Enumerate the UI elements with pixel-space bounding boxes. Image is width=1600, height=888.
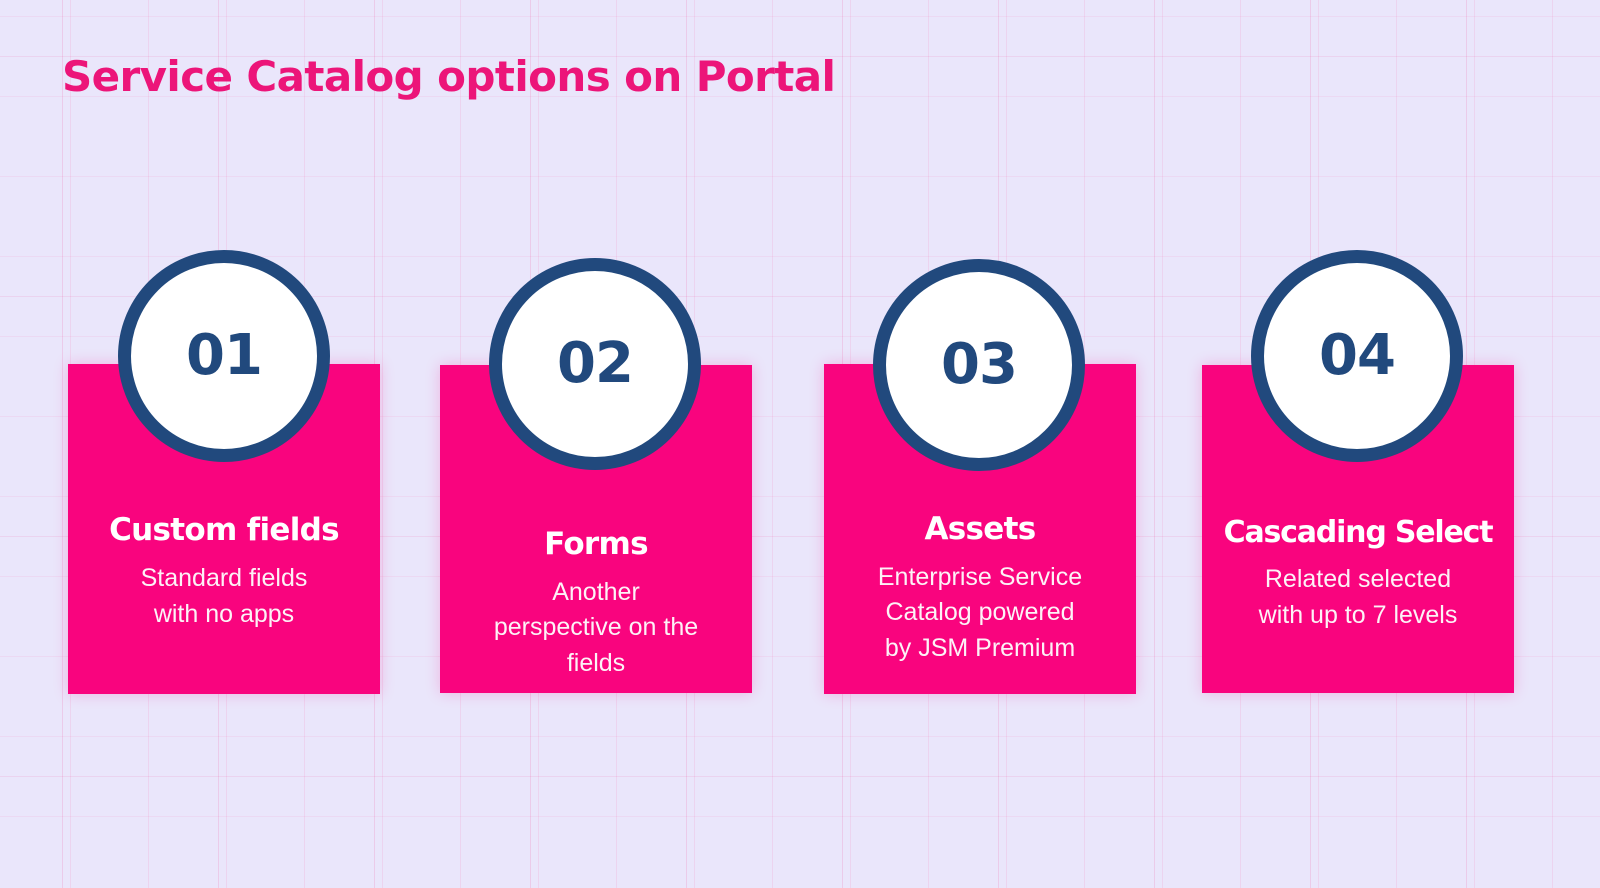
card-content: Forms Anotherperspective on thefields bbox=[440, 528, 752, 681]
step-badge-04: 04 bbox=[1251, 250, 1463, 462]
step-number: 01 bbox=[186, 328, 262, 384]
step-number: 03 bbox=[941, 337, 1017, 393]
step-number: 02 bbox=[557, 336, 633, 392]
card-content: Cascading Select Related selectedwith up… bbox=[1202, 517, 1514, 634]
card-content: Assets Enterprise ServiceCatalog powered… bbox=[824, 513, 1136, 666]
step-badge-01: 01 bbox=[118, 250, 330, 462]
card-heading: Custom fields bbox=[78, 514, 370, 547]
card-body: Standard fieldswith no apps bbox=[78, 561, 370, 632]
slide-canvas: Service Catalog options on Portal Custom… bbox=[0, 0, 1600, 888]
step-number: 04 bbox=[1319, 328, 1395, 384]
card-content: Custom fields Standard fieldswith no app… bbox=[68, 514, 380, 632]
card-body: Anotherperspective on thefields bbox=[450, 575, 742, 682]
card-heading: Forms bbox=[450, 528, 742, 561]
step-badge-03: 03 bbox=[873, 259, 1085, 471]
card-body: Enterprise ServiceCatalog poweredby JSM … bbox=[834, 560, 1126, 667]
card-heading: Cascading Select bbox=[1212, 517, 1504, 549]
card-row: Custom fields Standard fieldswith no app… bbox=[0, 0, 1600, 888]
step-badge-02: 02 bbox=[489, 258, 701, 470]
card-heading: Assets bbox=[834, 513, 1126, 546]
card-body: Related selectedwith up to 7 levels bbox=[1212, 562, 1504, 633]
